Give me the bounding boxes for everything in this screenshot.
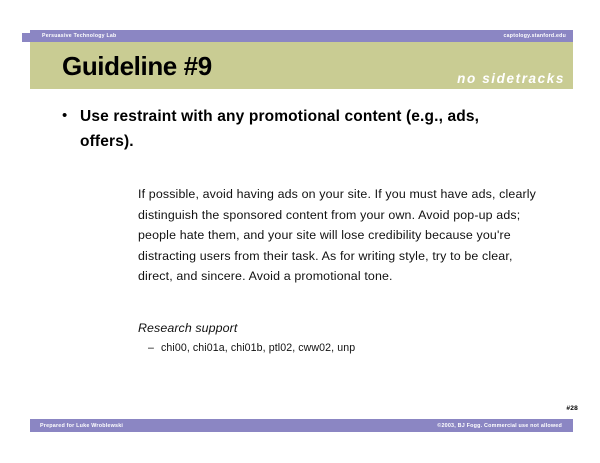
dash-marker-icon: –: [148, 341, 161, 356]
slide-title: Guideline #9: [62, 51, 212, 81]
slide-tagline: no sidetracks: [457, 71, 565, 87]
body-paragraph: If possible, avoid having ads on your si…: [138, 184, 538, 287]
research-citations-item: – chi00, chi01a, chi01b, ptl02, cww02, u…: [148, 341, 355, 356]
title-band: Guideline #9 no sidetracks: [30, 42, 573, 89]
prepared-for-label: Prepared for Luke Wroblewski: [40, 422, 123, 430]
presentation-slide: Persuasive Technology Lab captology.stan…: [0, 0, 600, 463]
bullet-marker-icon: •: [62, 104, 80, 128]
lab-name-label: Persuasive Technology Lab: [42, 32, 116, 40]
copyright-label: ©2003, BJ Fogg. Commercial use not allow…: [437, 422, 562, 430]
main-bullet: • Use restraint with any promotional con…: [62, 104, 542, 154]
research-support-label: Research support: [138, 320, 237, 337]
main-bullet-text: Use restraint with any promotional conte…: [80, 104, 520, 154]
site-url-label: captology.stanford.edu: [504, 32, 566, 40]
research-citations-text: chi00, chi01a, chi01b, ptl02, cww02, unp: [161, 341, 355, 356]
page-number: #28: [566, 404, 578, 413]
